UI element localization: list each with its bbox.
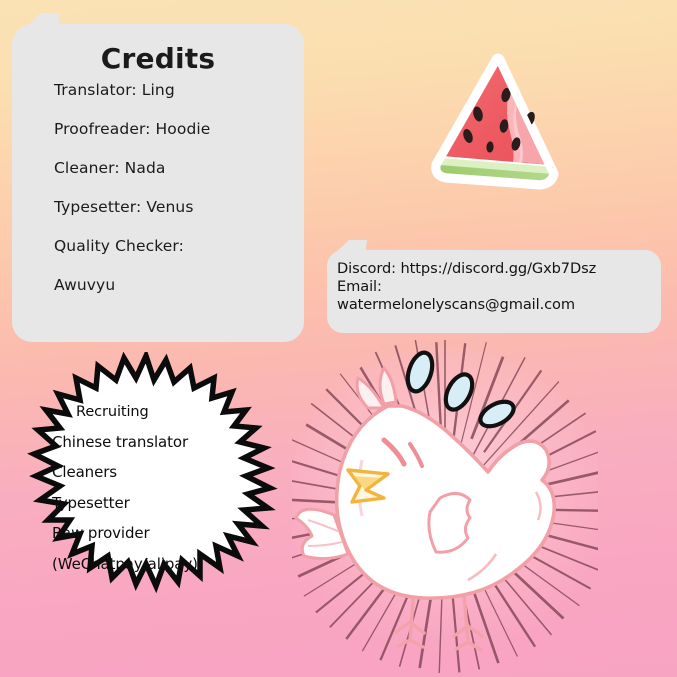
credit-line-cleaner: Cleaner: Nada	[54, 159, 284, 177]
credit-line-quality-checker: Quality Checker:	[54, 237, 284, 255]
watermelon-slice-icon	[424, 52, 570, 204]
recruit-line-payment-methods: (WeChatpay/alipay)	[52, 555, 256, 573]
email-address[interactable]: watermelonelyscans@gmail.com	[337, 296, 649, 314]
angry-chicken-illustration	[292, 340, 598, 677]
recruiting-burst-bubble: Recruiting Chinese translator Cleaners T…	[8, 352, 296, 642]
credits-bubble: Credits Translator: Ling Proofreader: Ho…	[12, 24, 304, 342]
recruit-line-chinese-translator: Chinese translator	[52, 433, 256, 451]
contact-bubble: Discord: https://discord.gg/Gxb7Dsz Emai…	[327, 250, 661, 333]
recruit-line-raw-provider: Raw provider	[52, 524, 256, 542]
page-canvas: Credits Translator: Ling Proofreader: Ho…	[0, 0, 677, 677]
bubble-tail-icon	[334, 240, 367, 254]
recruit-line-cleaners: Cleaners	[52, 463, 256, 481]
credit-line-translator: Translator: Ling	[54, 81, 284, 99]
recruit-line-heading: Recruiting	[52, 404, 256, 420]
credit-line-quality-checker-name: Awuvyu	[54, 276, 284, 294]
discord-link[interactable]: Discord: https://discord.gg/Gxb7Dsz	[337, 260, 649, 278]
credit-line-typesetter: Typesetter: Venus	[54, 198, 284, 216]
email-label: Email:	[337, 278, 649, 296]
recruit-line-typesetter: Typesetter	[52, 494, 256, 512]
recruiting-text-block: Recruiting Chinese translator Cleaners T…	[52, 404, 256, 573]
bubble-tail-icon	[25, 13, 60, 29]
credit-line-proofreader: Proofreader: Hoodie	[54, 120, 284, 138]
credits-title: Credits	[54, 42, 284, 75]
